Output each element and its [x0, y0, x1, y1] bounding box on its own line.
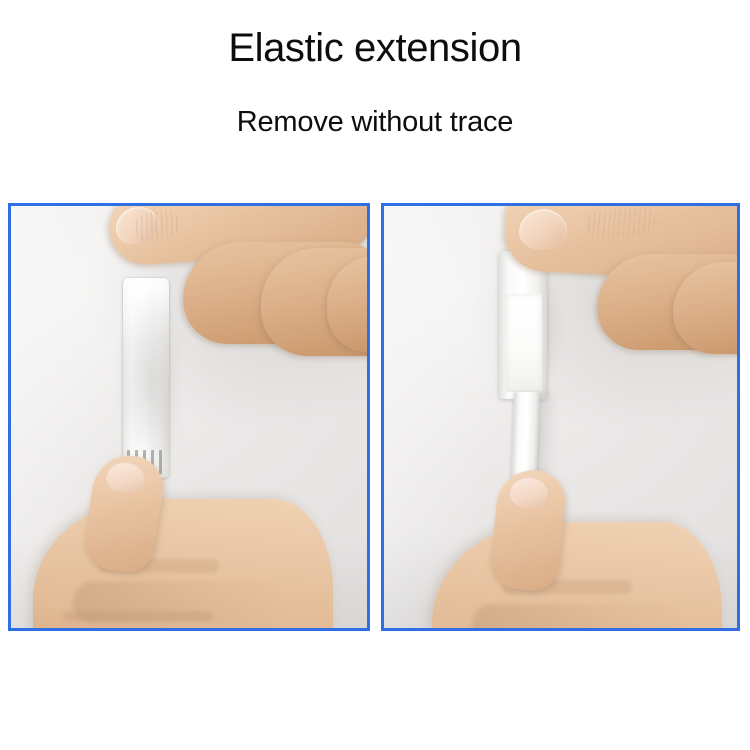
photo-stretch	[384, 206, 737, 628]
thumb	[488, 467, 568, 593]
knuckle-crease	[584, 206, 656, 240]
thumbnail	[510, 478, 548, 508]
fingernail	[517, 207, 570, 253]
product-feature-graphic: Elastic extension Remove without trace	[0, 0, 750, 750]
skin-fold	[63, 611, 213, 621]
knuckle-row	[472, 604, 682, 628]
upper-hand	[91, 206, 367, 386]
upper-hand	[477, 206, 737, 362]
panel-row	[0, 203, 750, 631]
thumbnail	[106, 462, 146, 494]
photo-panel-press	[8, 203, 370, 631]
lower-hand	[408, 460, 728, 628]
page-title: Elastic extension	[0, 0, 750, 68]
photo-panel-stretch	[381, 203, 740, 631]
fist	[432, 522, 722, 628]
lower-hand	[15, 453, 345, 628]
page-subtitle: Remove without trace	[0, 68, 750, 137]
heading-block: Elastic extension Remove without trace	[0, 0, 750, 137]
photo-press	[11, 206, 367, 628]
fist	[33, 499, 333, 628]
